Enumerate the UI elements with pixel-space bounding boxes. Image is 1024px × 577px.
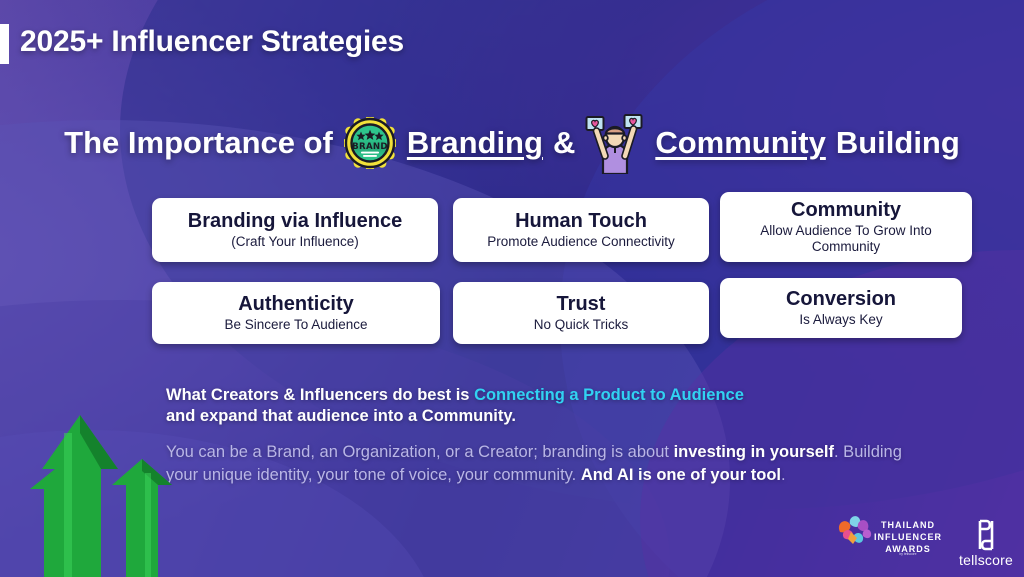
paragraph-part-1: You can be a Brand, an Organization, or … [166, 443, 674, 461]
community-people-icon [584, 112, 646, 174]
green-growth-arrows-icon [0, 377, 220, 577]
card-subtitle: No Quick Tricks [534, 317, 629, 333]
card-subtitle: (Craft Your Influence) [231, 234, 359, 250]
card-subtitle: Be Sincere To Audience [224, 317, 367, 333]
tia-line-2: INFLUENCER [874, 532, 942, 542]
main-heading: The Importance of [0, 112, 1024, 174]
paragraph-part-3: . [781, 466, 786, 484]
card-branding-via-influence[interactable]: Branding via Influence (Craft Your Influ… [152, 198, 438, 262]
header-accent-bar [0, 24, 9, 64]
page-title: 2025+ Influencer Strategies [20, 25, 404, 59]
card-subtitle: Promote Audience Connectivity [487, 234, 675, 250]
heading-part-2: Building [836, 125, 960, 161]
tia-line-1: THAILAND [881, 520, 935, 530]
card-title: Community [791, 199, 901, 221]
card-authenticity[interactable]: Authenticity Be Sincere To Audience [152, 282, 440, 344]
tellscore-logo: tellscore [955, 518, 1017, 572]
card-title: Human Touch [515, 210, 647, 232]
card-title: Trust [557, 293, 606, 315]
paragraph-bold-1: investing in yourself [674, 443, 834, 461]
heading-ampersand: & [553, 125, 575, 161]
card-title: Branding via Influence [188, 210, 402, 232]
card-title: Conversion [786, 288, 896, 310]
card-subtitle: Is Always Key [799, 312, 882, 328]
value-cards-grid: Branding via Influence (Craft Your Influ… [0, 198, 1024, 353]
slide-root: 2025+ Influencer Strategies The Importan… [0, 0, 1024, 577]
svg-text:BRAND: BRAND [352, 142, 388, 152]
heading-word-branding: Branding [407, 125, 543, 161]
card-subtitle: Allow Audience To Grow Into Community [730, 223, 962, 255]
card-trust[interactable]: Trust No Quick Tricks [453, 282, 709, 344]
tia-byline: by tellscore [870, 552, 946, 556]
paragraph-bold-2: And AI is one of your tool [581, 466, 781, 484]
card-community[interactable]: Community Allow Audience To Grow Into Co… [720, 192, 972, 262]
card-conversion[interactable]: Conversion Is Always Key [720, 278, 962, 338]
card-title: Authenticity [238, 293, 354, 315]
heading-word-community: Community [655, 125, 826, 161]
description-paragraph: You can be a Brand, an Organization, or … [166, 441, 911, 488]
highlight-statement: What Creators & Influencers do best is C… [166, 385, 926, 428]
thailand-influencer-awards-logo: THAILAND INFLUENCER AWARDS by tellscore [832, 512, 944, 570]
statement-highlight: Connecting a Product to Audience [474, 386, 744, 404]
card-human-touch[interactable]: Human Touch Promote Audience Connectivit… [453, 198, 709, 262]
tellscore-wordmark: tellscore [955, 552, 1017, 568]
brand-badge-icon: BRAND [344, 117, 396, 169]
heading-part-1: The Importance of [64, 125, 333, 161]
tia-wordmark: THAILAND INFLUENCER AWARDS [870, 519, 946, 555]
